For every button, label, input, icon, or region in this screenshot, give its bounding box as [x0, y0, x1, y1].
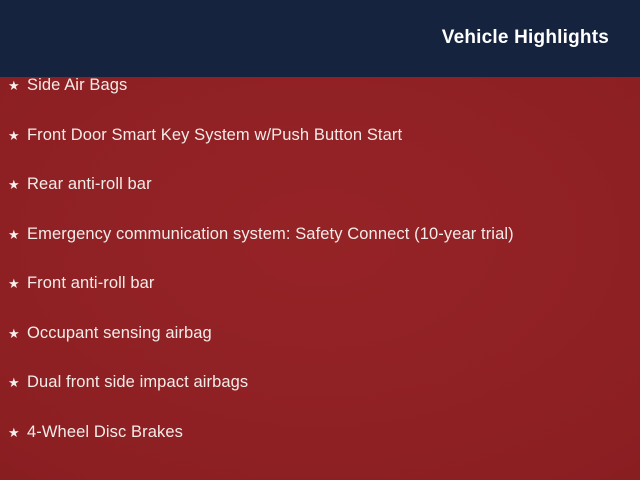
star-icon: ★	[8, 178, 27, 191]
vehicle-highlights-screen: Vehicle Highlights ★ Side Air Bags ★ Fro…	[0, 0, 640, 480]
list-item: ★ Rear anti-roll bar	[0, 176, 640, 226]
page-title: Vehicle Highlights	[442, 27, 609, 49]
list-item-label: Occupant sensing airbag	[27, 325, 640, 342]
star-icon: ★	[8, 277, 27, 290]
list-item-label: Dual front side impact airbags	[27, 374, 640, 391]
list-item: ★ Front Door Smart Key System w/Push But…	[0, 127, 640, 177]
highlights-panel: ★ Side Air Bags ★ Front Door Smart Key S…	[0, 77, 640, 480]
list-item-label: Rear anti-roll bar	[27, 176, 640, 193]
star-icon: ★	[8, 79, 27, 92]
list-item-label: Side Air Bags	[27, 77, 640, 94]
list-item: ★ Side Air Bags	[0, 77, 640, 127]
star-icon: ★	[8, 426, 27, 439]
list-item: ★ Emergency communication system: Safety…	[0, 226, 640, 276]
list-item-label: 4-Wheel Disc Brakes	[27, 424, 640, 441]
list-item-label: Front Door Smart Key System w/Push Butto…	[27, 127, 640, 144]
star-icon: ★	[8, 129, 27, 142]
list-item-label: Emergency communication system: Safety C…	[27, 226, 640, 243]
star-icon: ★	[8, 228, 27, 241]
list-item: ★ 4-Wheel Disc Brakes	[0, 424, 640, 474]
list-item: ★ Occupant sensing airbag	[0, 325, 640, 375]
list-item: ★ Front anti-roll bar	[0, 275, 640, 325]
list-item-label: Front anti-roll bar	[27, 275, 640, 292]
vehicle-highlights-list: ★ Side Air Bags ★ Front Door Smart Key S…	[0, 77, 640, 473]
star-icon: ★	[8, 376, 27, 389]
header-bar: Vehicle Highlights	[0, 0, 640, 77]
star-icon: ★	[8, 327, 27, 340]
list-item: ★ Dual front side impact airbags	[0, 374, 640, 424]
